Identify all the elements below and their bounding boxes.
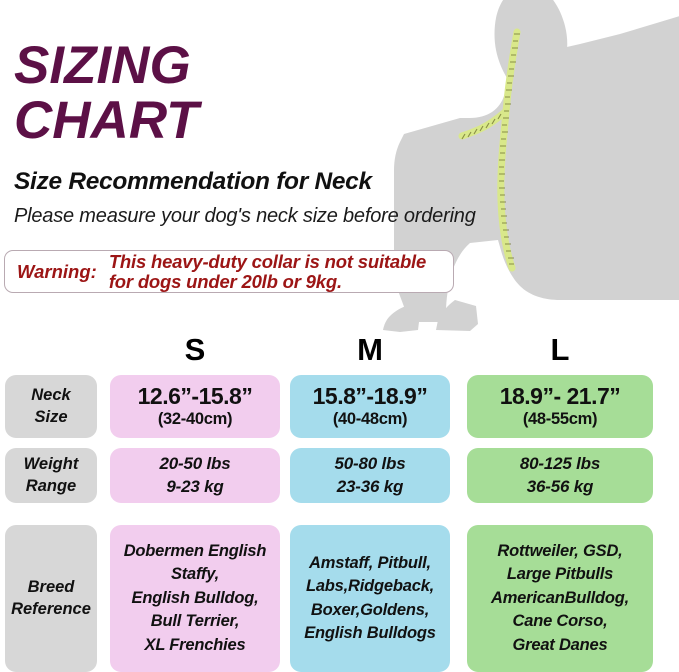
neck-size-s-inches: 12.6”-15.8” xyxy=(138,384,253,408)
column-header-s: S xyxy=(110,330,280,370)
row-label-weight-line-1: Weight xyxy=(24,454,79,475)
breed-l-line-4: Cane Corso, xyxy=(513,610,608,633)
weight-range-m-lbs: 50-80 lbs xyxy=(335,453,406,475)
row-label-neck-line-1: Neck xyxy=(31,385,70,406)
breed-m-line-4: English Bulldogs xyxy=(304,622,436,645)
row-label-weight-range: Weight Range xyxy=(5,448,97,503)
row-label-neck-size: Neck Size xyxy=(5,375,97,438)
warning-box: Warning: This heavy-duty collar is not s… xyxy=(4,250,454,293)
page-title-line-2: CHART xyxy=(14,93,476,148)
column-header-l: L xyxy=(467,330,653,370)
breed-s-line-5: XL Frenchies xyxy=(145,634,246,657)
neck-size-m-cm: (40-48cm) xyxy=(333,410,407,429)
neck-size-l-inches: 18.9”- 21.7” xyxy=(500,384,621,408)
weight-range-l-lbs: 80-125 lbs xyxy=(520,453,600,475)
cell-neck-size-s: 12.6”-15.8” (32-40cm) xyxy=(110,375,280,438)
size-table: S M L Neck Size 12.6”-15.8” (32-40cm) 15… xyxy=(0,330,679,672)
breed-m-line-2: Labs,Ridgeback, xyxy=(306,575,434,598)
breed-l-line-2: Large Pitbulls xyxy=(507,563,613,586)
cell-weight-range-m: 50-80 lbs 23-36 kg xyxy=(290,448,450,503)
row-label-breed-line-1: Breed xyxy=(28,577,75,598)
cell-neck-size-l: 18.9”- 21.7” (48-55cm) xyxy=(467,375,653,438)
weight-range-s-kg: 9-23 kg xyxy=(166,476,223,498)
breed-l-line-5: Great Danes xyxy=(512,634,607,657)
neck-size-l-cm: (48-55cm) xyxy=(523,410,597,429)
warning-label: Warning: xyxy=(5,261,97,283)
row-label-breed-line-2: Reference xyxy=(11,599,91,620)
row-label-breed-reference: Breed Reference xyxy=(5,525,97,672)
column-header-m: M xyxy=(290,330,450,370)
breed-s-line-3: English Bulldog, xyxy=(132,587,259,610)
row-label-weight-line-2: Range xyxy=(26,476,76,497)
breed-s-line-1: Dobermen English xyxy=(124,540,267,563)
weight-range-m-kg: 23-36 kg xyxy=(337,476,403,498)
breed-m-line-1: Amstaff, Pitbull, xyxy=(309,552,431,575)
breed-l-line-1: Rottweiler, GSD, xyxy=(497,540,622,563)
neck-size-m-inches: 15.8”-18.9” xyxy=(313,384,428,408)
warning-text-line-2: for dogs under 20lb or 9kg. xyxy=(109,272,426,292)
breed-s-line-4: Bull Terrier, xyxy=(151,610,240,633)
cell-neck-size-m: 15.8”-18.9” (40-48cm) xyxy=(290,375,450,438)
breed-l-line-3: AmericanBulldog, xyxy=(491,587,629,610)
cell-breed-reference-m: Amstaff, Pitbull, Labs,Ridgeback, Boxer,… xyxy=(290,525,450,672)
row-label-neck-line-2: Size xyxy=(34,407,67,428)
warning-text-line-1: This heavy-duty collar is not suitable xyxy=(109,252,426,272)
cell-breed-reference-l: Rottweiler, GSD, Large Pitbulls American… xyxy=(467,525,653,672)
breed-s-line-2: Staffy, xyxy=(171,563,219,586)
cell-breed-reference-s: Dobermen English Staffy, English Bulldog… xyxy=(110,525,280,672)
neck-size-s-cm: (32-40cm) xyxy=(158,410,232,429)
cell-weight-range-l: 80-125 lbs 36-56 kg xyxy=(467,448,653,503)
weight-range-l-kg: 36-56 kg xyxy=(527,476,593,498)
warning-text: This heavy-duty collar is not suitable f… xyxy=(97,252,426,292)
breed-m-line-3: Boxer,Goldens, xyxy=(311,599,429,622)
page-subtitle: Size Recommendation for Neck xyxy=(14,168,476,196)
cell-weight-range-s: 20-50 lbs 9-23 kg xyxy=(110,448,280,503)
headline-block: SIZING CHART Size Recommendation for Nec… xyxy=(14,38,476,228)
weight-range-s-lbs: 20-50 lbs xyxy=(160,453,231,475)
measure-instruction: Please measure your dog's neck size befo… xyxy=(14,205,476,228)
page-title-line-1: SIZING xyxy=(14,38,476,93)
